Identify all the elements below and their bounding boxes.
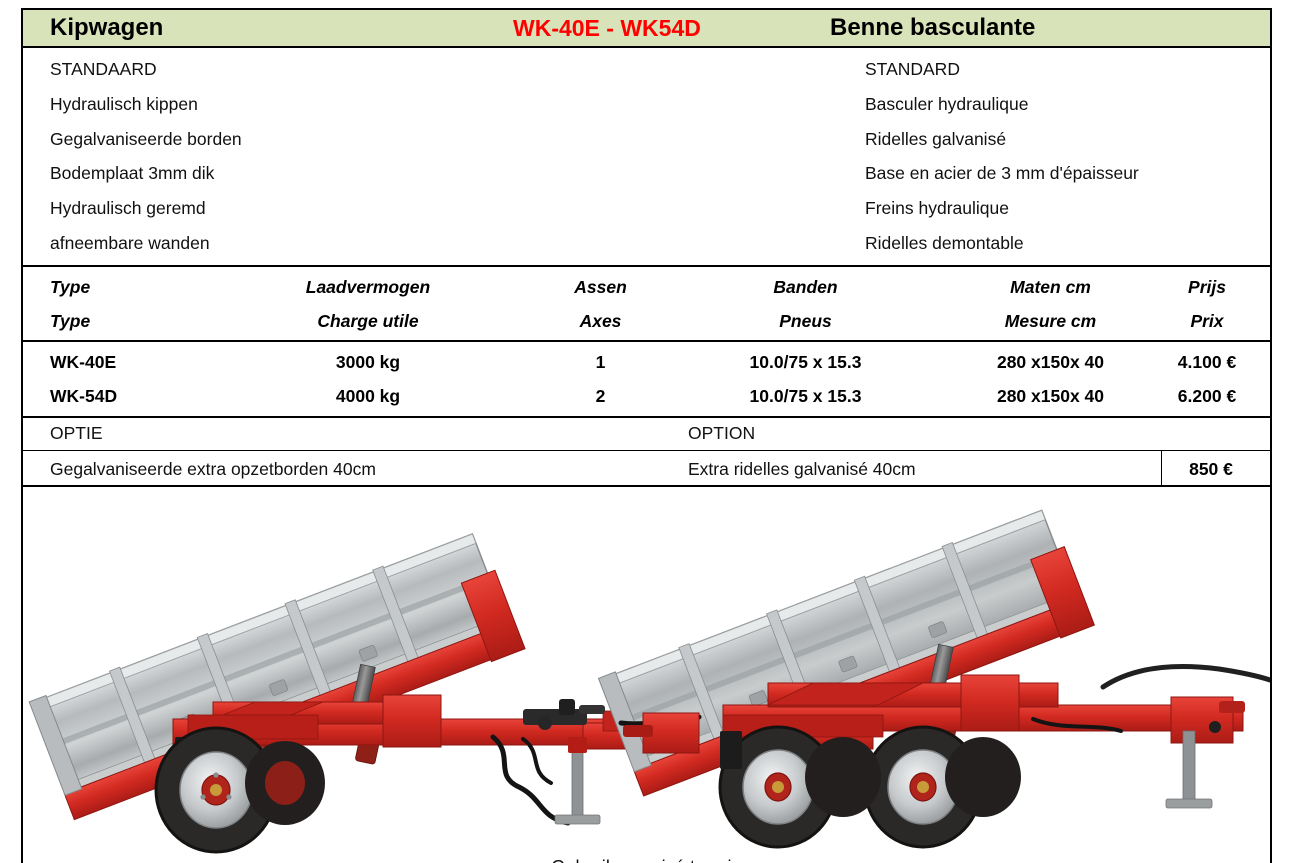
- cell-capacity: 3000 kg: [203, 345, 533, 379]
- cell-axes: 2: [533, 379, 668, 413]
- cell-tyres: 10.0/75 x 15.3: [668, 345, 943, 379]
- col-header-type-nl: Type: [23, 270, 203, 304]
- standard-item-fr: Ridelles galvanisé: [865, 122, 1270, 157]
- standard-item-fr: Ridelles demontable: [865, 226, 1270, 261]
- standard-list-nl: STANDAARD Hydraulisch kippen Gegalvanise…: [23, 52, 843, 261]
- cell-price: 4.100 €: [1158, 345, 1270, 379]
- col-header-dims-fr: Mesure cm: [943, 304, 1158, 338]
- model-code-label: WK-40E - WK54D: [453, 9, 808, 47]
- standard-item-fr: STANDARD: [865, 52, 1270, 87]
- standard-list-fr: STANDARD Basculer hydraulique Ridelles g…: [843, 52, 1270, 261]
- col-header-price-nl: Prijs: [1158, 270, 1270, 304]
- table-row: WK-54D 4000 kg 2 10.0/75 x 15.3 280 x150…: [23, 379, 1270, 413]
- standard-item-nl: Hydraulisch geremd: [50, 191, 843, 226]
- standard-item-nl: afneembare wanden: [50, 226, 843, 261]
- col-header-axes-nl: Assen: [533, 270, 668, 304]
- cell-type: WK-40E: [23, 345, 203, 379]
- spec-header-row-fr: Type Charge utile Axes Pneus Mesure cm P…: [23, 304, 1270, 338]
- cell-price: 6.200 €: [1158, 379, 1270, 413]
- standard-item-nl: STANDAARD: [50, 52, 843, 87]
- option-item-fr: Extra ridelles galvanisé 40cm: [688, 451, 1162, 485]
- col-header-type-fr: Type: [23, 304, 203, 338]
- product-photo-cell: Gebruik op privé terrein: [23, 487, 1270, 863]
- col-header-tyres-fr: Pneus: [668, 304, 943, 338]
- product-spec-sheet: Kipwagen WK-40E - WK54D Benne basculante…: [21, 8, 1272, 863]
- option-label-fr: OPTION: [688, 417, 1270, 450]
- option-item-row: Gegalvaniseerde extra opzetborden 40cm E…: [23, 451, 1270, 487]
- cell-dims: 280 x150x 40: [943, 379, 1158, 413]
- cell-axes: 1: [533, 345, 668, 379]
- cell-type: WK-54D: [23, 379, 203, 413]
- spec-header-row-nl: Type Laadvermogen Assen Banden Maten cm …: [23, 270, 1270, 304]
- option-price: 850 €: [1162, 451, 1270, 485]
- standard-equipment-block: STANDAARD Hydraulisch kippen Gegalvanise…: [23, 48, 1270, 267]
- standard-item-fr: Base en acier de 3 mm d'épaisseur: [865, 156, 1270, 191]
- spec-table-header: Type Laadvermogen Assen Banden Maten cm …: [23, 267, 1270, 342]
- standard-item-nl: Bodemplaat 3mm dik: [50, 156, 843, 191]
- option-heading-row: OPTIE OPTION: [23, 418, 1270, 451]
- page-title-fr: Benne basculante: [808, 9, 1270, 47]
- photo-caption: Gebruik op privé terrein: [23, 857, 1270, 863]
- col-header-capacity-nl: Laadvermogen: [203, 270, 533, 304]
- col-header-capacity-fr: Charge utile: [203, 304, 533, 338]
- col-header-tyres-nl: Banden: [668, 270, 943, 304]
- cell-tyres: 10.0/75 x 15.3: [668, 379, 943, 413]
- cell-capacity: 4000 kg: [203, 379, 533, 413]
- col-header-dims-nl: Maten cm: [943, 270, 1158, 304]
- col-header-axes-fr: Axes: [533, 304, 668, 338]
- standard-item-nl: Gegalvaniseerde borden: [50, 122, 843, 157]
- table-row: WK-40E 3000 kg 1 10.0/75 x 15.3 280 x150…: [23, 345, 1270, 379]
- standard-item-nl: Hydraulisch kippen: [50, 87, 843, 122]
- option-item-nl: Gegalvaniseerde extra opzetborden 40cm: [23, 451, 688, 485]
- page-root: Kipwagen WK-40E - WK54D Benne basculante…: [0, 0, 1296, 863]
- trailer-photo-illustration: [23, 487, 1270, 863]
- sheet-title-band: Kipwagen WK-40E - WK54D Benne basculante: [23, 10, 1270, 48]
- option-label-nl: OPTIE: [23, 417, 688, 450]
- col-header-price-fr: Prix: [1158, 304, 1270, 338]
- standard-item-fr: Basculer hydraulique: [865, 87, 1270, 122]
- page-title-nl: Kipwagen: [23, 9, 453, 47]
- spec-table-body: WK-40E 3000 kg 1 10.0/75 x 15.3 280 x150…: [23, 342, 1270, 418]
- cell-dims: 280 x150x 40: [943, 345, 1158, 379]
- standard-item-fr: Freins hydraulique: [865, 191, 1270, 226]
